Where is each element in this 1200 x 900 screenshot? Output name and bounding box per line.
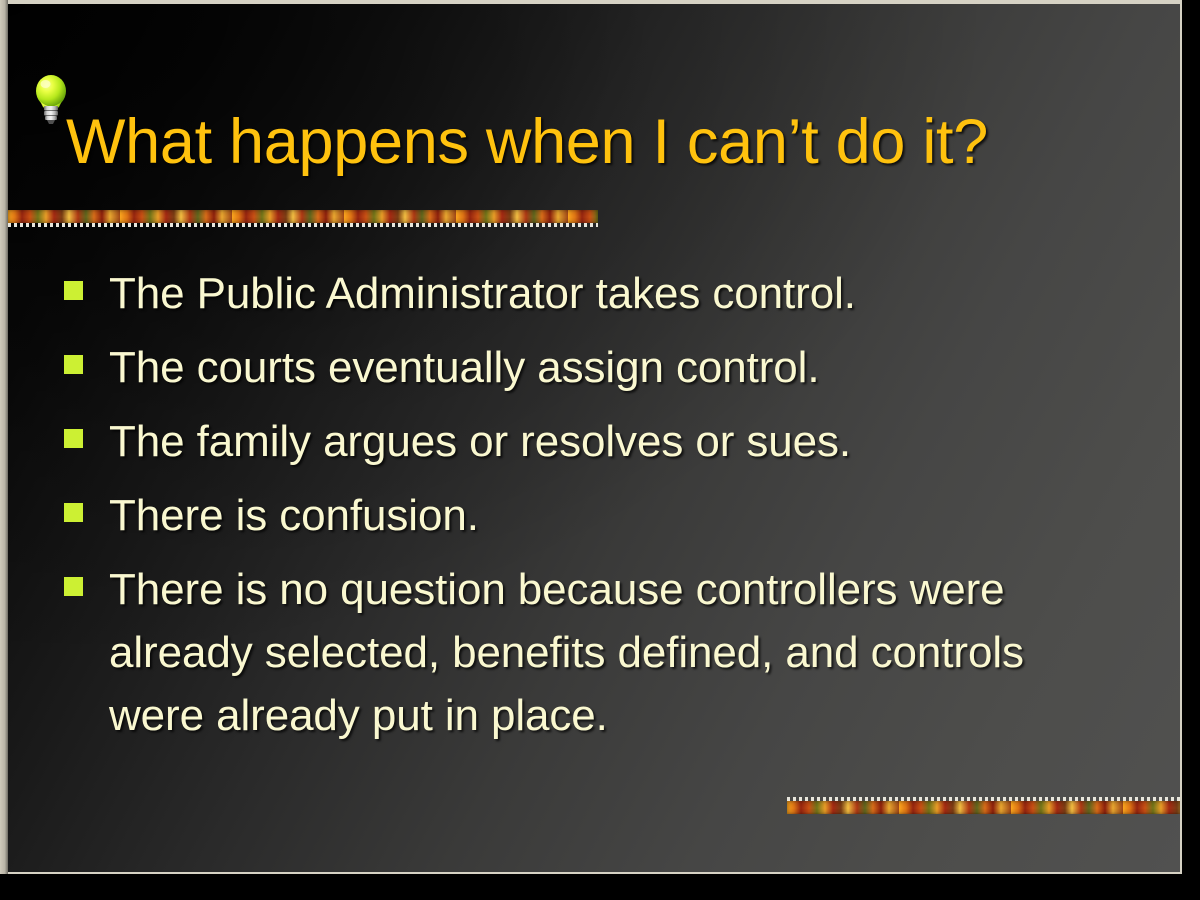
green-square-bullet-icon <box>64 503 83 522</box>
list-item: The family argues or resolves or sues. <box>64 410 1124 473</box>
slide-canvas: What happens when I can’t do it? The Pub… <box>8 4 1180 872</box>
bullet-text: There is confusion. <box>109 484 1124 547</box>
slide-outer-frame: What happens when I can’t do it? The Pub… <box>0 0 1200 900</box>
green-square-bullet-icon <box>64 281 83 300</box>
bullet-list: The Public Administrator takes control. … <box>64 262 1124 758</box>
frame-right-edge <box>1182 0 1200 900</box>
divider-dotted-line <box>8 223 598 227</box>
green-square-bullet-icon <box>64 429 83 448</box>
divider-texture-band <box>8 210 598 223</box>
list-item: The courts eventually assign control. <box>64 336 1124 399</box>
bullet-text: The courts eventually assign control. <box>109 336 1124 399</box>
bottom-autumn-divider <box>787 797 1180 817</box>
list-item: The Public Administrator takes control. <box>64 262 1124 325</box>
green-square-bullet-icon <box>64 577 83 596</box>
bullet-text: The Public Administrator takes control. <box>109 262 1124 325</box>
list-item: There is confusion. <box>64 484 1124 547</box>
green-square-bullet-icon <box>64 355 83 374</box>
bullet-text: There is no question because controllers… <box>109 558 1064 747</box>
slide-title: What happens when I can’t do it? <box>66 108 1176 176</box>
slide-content-area: What happens when I can’t do it? The Pub… <box>8 4 1180 872</box>
top-autumn-divider <box>8 210 598 230</box>
list-item: There is no question because controllers… <box>64 558 1124 747</box>
frame-bottom-edge <box>0 874 1200 900</box>
divider-texture-band <box>787 801 1180 814</box>
frame-left-edge <box>0 0 8 900</box>
bullet-text: The family argues or resolves or sues. <box>109 410 1124 473</box>
